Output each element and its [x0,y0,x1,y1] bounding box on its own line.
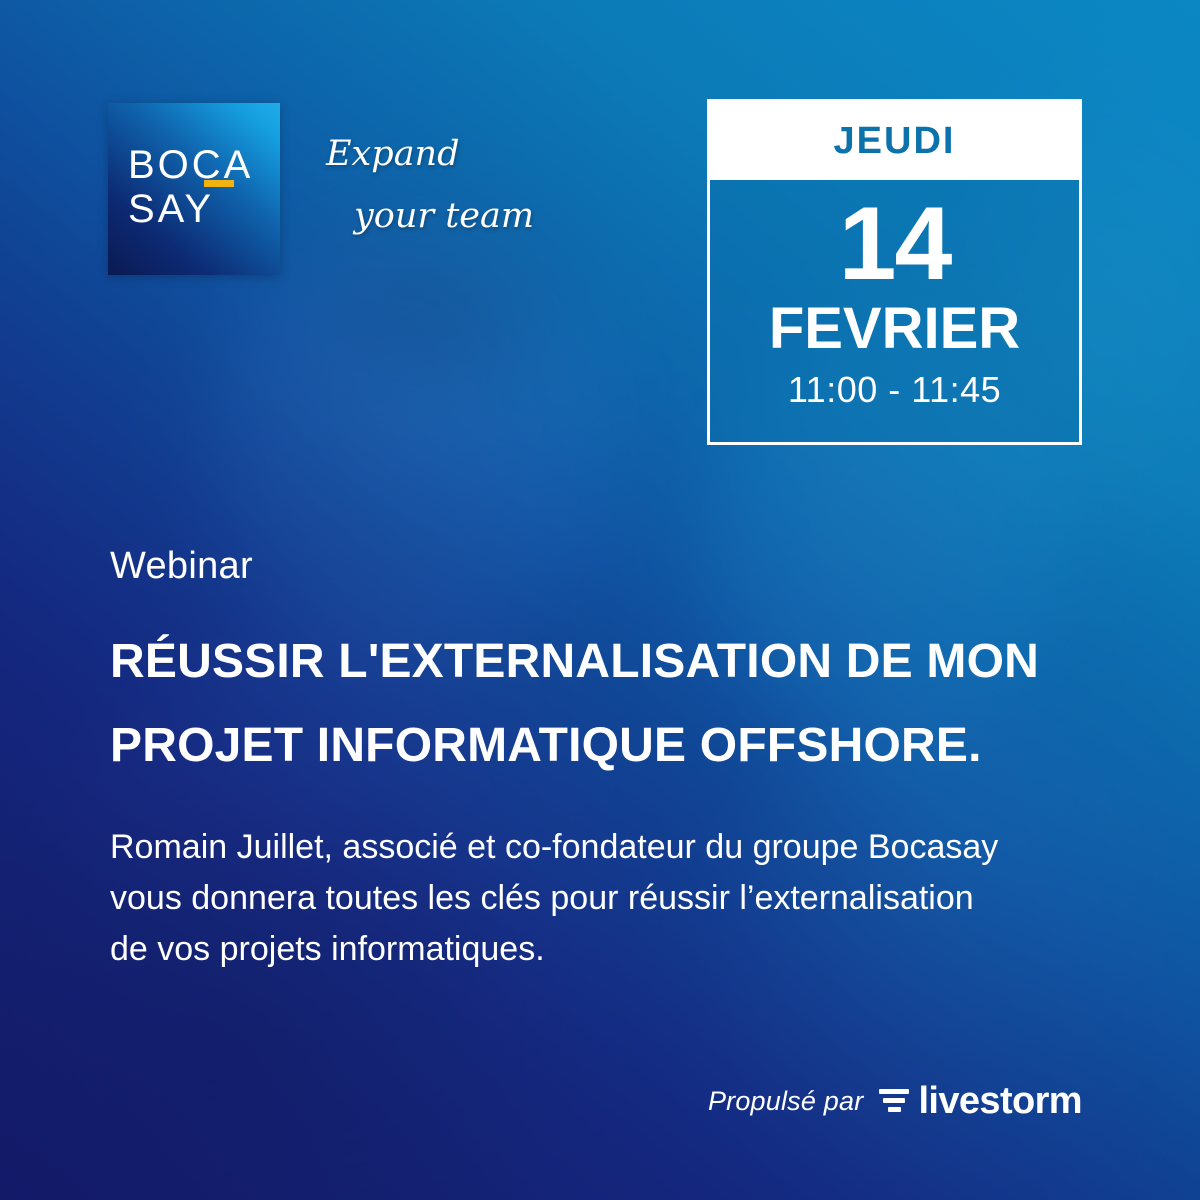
event-day-number: 14 [839,192,951,296]
content-type-label: Webinar [110,545,253,588]
tagline-line-2: your team [326,185,534,247]
bocasay-wordmark: BOCA SAY [128,143,253,231]
logo-underscore-accent [204,180,234,187]
headline-line-1: RÉUSSIR L'EXTERNALISATION DE MON [110,620,1110,704]
date-card-header: JEUDI [710,102,1079,180]
headline-line-2: PROJET INFORMATIQUE OFFSHORE. [110,704,1110,788]
brand-logo-block: BOCA SAY Expand your team [108,103,280,275]
brand-tagline: Expand your team [326,123,534,247]
livestorm-wordmark: livestorm [918,1080,1082,1123]
date-card-body: 14 FEVRIER 11:00 - 11:45 [710,180,1079,442]
description-line-3: de vos projets informatiques. [110,924,1110,975]
powered-by-label: Propulsé par [708,1086,864,1117]
event-weekday: JEUDI [834,120,956,163]
event-time-range: 11:00 - 11:45 [788,370,1001,410]
webinar-promo-poster: BOCA SAY Expand your team JEUDI 14 FEVRI… [0,0,1200,1200]
livestorm-mark-icon [879,1089,909,1114]
powered-by-footer: Propulsé par livestorm [708,1080,1082,1123]
webinar-headline: RÉUSSIR L'EXTERNALISATION DE MON PROJET … [110,620,1110,788]
event-month: FEVRIER [769,298,1020,360]
livestorm-logo: livestorm [879,1080,1082,1123]
event-date-card: JEUDI 14 FEVRIER 11:00 - 11:45 [707,99,1082,445]
tagline-line-1: Expand [326,134,460,174]
poster-content: BOCA SAY Expand your team JEUDI 14 FEVRI… [0,0,1200,1200]
logo-line-2: SAY [128,187,214,231]
description-line-2: vous donnera toutes les clés pour réussi… [110,873,1110,924]
logo-line-1: BOCA [128,143,253,187]
bocasay-logo-mark: BOCA SAY [108,103,280,275]
webinar-description: Romain Juillet, associé et co-fondateur … [110,822,1110,975]
description-line-1: Romain Juillet, associé et co-fondateur … [110,822,1110,873]
